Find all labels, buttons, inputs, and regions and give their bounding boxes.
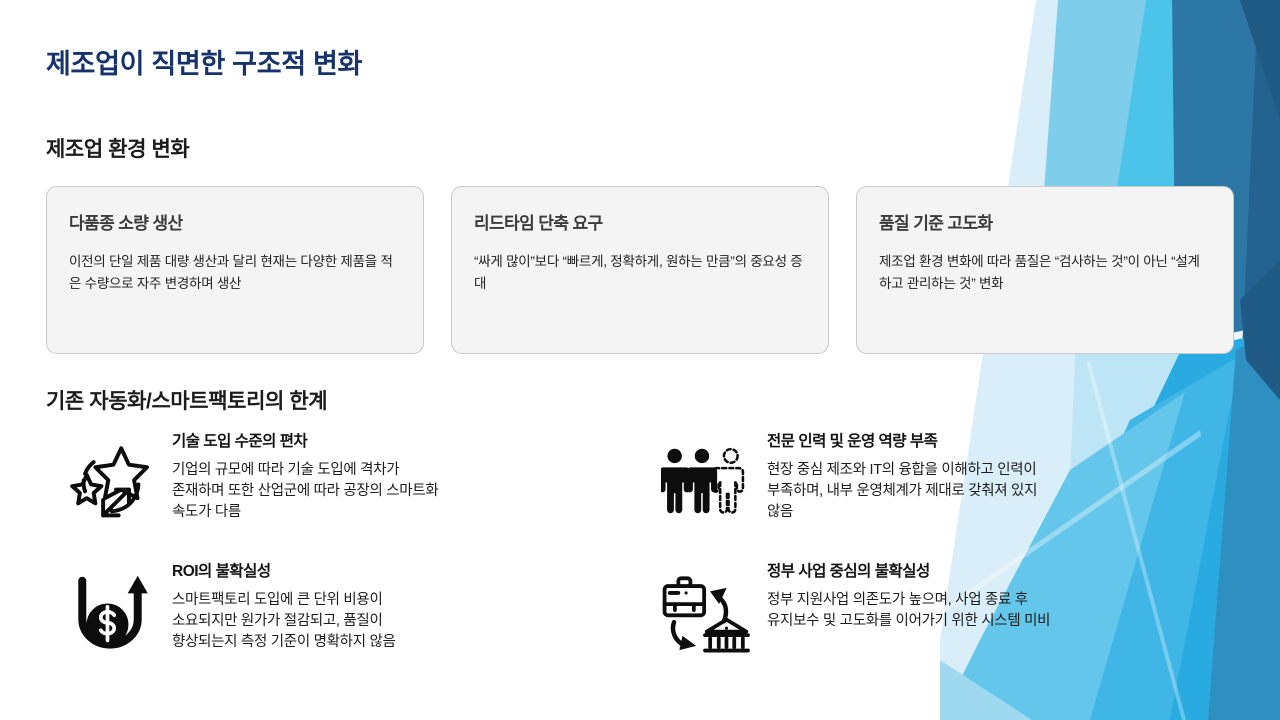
limit-item: 기술 도입 수준의 편차 기업의 규모에 따라 기술 도입에 격차가 존재하며 … xyxy=(62,427,647,557)
stars-cycle-icon xyxy=(62,433,158,529)
roi-dollar-arrow-icon xyxy=(62,563,158,659)
change-card-body: 이전의 단일 제품 대량 생산과 달리 현재는 다양한 제품을 적은 수량으로 … xyxy=(69,251,401,295)
limit-body: 기업의 규모에 따라 기술 도입에 격차가 존재하며 또한 산업군에 따라 공장… xyxy=(172,460,647,523)
slide-root: 제조업이 직면한 구조적 변화 제조업 환경 변화 다품종 소량 생산 이전의 … xyxy=(0,0,1280,720)
change-card-title: 리드타임 단축 요구 xyxy=(474,209,806,234)
section-heading-environment-change: 제조업 환경 변화 xyxy=(46,133,189,163)
change-card-title: 품질 기준 고도화 xyxy=(879,209,1211,234)
change-card-body: “싸게 많이”보다 “빠르게, 정확하게, 원하는 만큼”의 중요성 증대 xyxy=(474,251,806,295)
limit-body: 현장 중심 제조와 IT의 융합을 이해하고 인력이 부족하며, 내부 운영체계… xyxy=(767,460,1242,523)
change-card-body: 제조업 환경 변화에 따라 품질은 “검사하는 것”이 아닌 “설계하고 관리하… xyxy=(879,251,1211,295)
limit-body-line: 기업의 규모에 따라 기술 도입에 격차가 xyxy=(172,460,647,481)
card-body-line: 제조업 환경 변화에 따라 품질은 “검사하는 xyxy=(879,254,1108,269)
limit-text: ROI의 불확실성 스마트팩토리 도입에 큰 단위 비용이 소요되지만 원가가 … xyxy=(172,557,647,653)
people-shortage-icon xyxy=(657,433,753,529)
limit-text: 전문 인력 및 운영 역량 부족 현장 중심 제조와 IT의 융합을 이해하고 … xyxy=(767,427,1242,523)
change-card: 리드타임 단축 요구 “싸게 많이”보다 “빠르게, 정확하게, 원하는 만큼”… xyxy=(451,186,829,354)
page-title: 제조업이 직면한 구조적 변화 xyxy=(46,42,362,81)
limit-body-line: 유지보수 및 고도화를 이어가기 위한 시스템 미비 xyxy=(767,611,1242,632)
limit-body-line: 않음 xyxy=(767,502,1242,523)
limit-body: 스마트팩토리 도입에 큰 단위 비용이 소요되지만 원가가 절감되고, 품질이 … xyxy=(172,590,647,653)
limit-body-line: 향상되는지 측정 기준이 명확하지 않음 xyxy=(172,632,647,653)
limit-title: 기술 도입 수준의 편차 xyxy=(172,429,647,451)
limit-body-line: 부족하며, 내부 운영체계가 제대로 갖춰져 있지 xyxy=(767,481,1242,502)
limit-item: 정부 사업 중심의 불확실성 정부 지원사업 의존도가 높으며, 사업 종료 후… xyxy=(657,557,1242,687)
limit-text: 정부 사업 중심의 불확실성 정부 지원사업 의존도가 높으며, 사업 종료 후… xyxy=(767,557,1242,632)
limit-body-line: 스마트팩토리 도입에 큰 단위 비용이 xyxy=(172,590,647,611)
limit-title: 전문 인력 및 운영 역량 부족 xyxy=(767,429,1242,451)
limit-body-line: 현장 중심 제조와 IT의 융합을 이해하고 인력이 xyxy=(767,460,1242,481)
limit-item: ROI의 불확실성 스마트팩토리 도입에 큰 단위 비용이 소요되지만 원가가 … xyxy=(62,557,647,687)
change-card: 다품종 소량 생산 이전의 단일 제품 대량 생산과 달리 현재는 다양한 제품… xyxy=(46,186,424,354)
limit-body: 정부 지원사업 의존도가 높으며, 사업 종료 후 유지보수 및 고도화를 이어… xyxy=(767,590,1242,632)
change-card: 품질 기준 고도화 제조업 환경 변화에 따라 품질은 “검사하는 것”이 아닌… xyxy=(856,186,1234,354)
section-heading-automation-limits: 기존 자동화/스마트팩토리의 한계 xyxy=(46,385,327,415)
card-body-line: “싸게 많이”보다 “빠르게, 정확하게, 원하는 xyxy=(474,254,702,269)
limit-body-line: 존재하며 또한 산업군에 따라 공장의 스마트화 xyxy=(172,481,647,502)
card-body-line: 이전의 단일 제품 대량 생산과 달리 현재는 xyxy=(69,254,297,269)
briefcase-government-cycle-icon xyxy=(657,563,753,659)
limit-item: 전문 인력 및 운영 역량 부족 현장 중심 제조와 IT의 융합을 이해하고 … xyxy=(657,427,1242,557)
limit-text: 기술 도입 수준의 편차 기업의 규모에 따라 기술 도입에 격차가 존재하며 … xyxy=(172,427,647,523)
limit-body-line: 소요되지만 원가가 절감되고, 품질이 xyxy=(172,611,647,632)
limit-body-line: 정부 지원사업 의존도가 높으며, 사업 종료 후 xyxy=(767,590,1242,611)
limit-body-line: 속도가 다름 xyxy=(172,502,647,523)
change-card-title: 다품종 소량 생산 xyxy=(69,209,401,234)
automation-limits-grid: 기술 도입 수준의 편차 기업의 규모에 따라 기술 도입에 격차가 존재하며 … xyxy=(62,427,1242,687)
limit-title: ROI의 불확실성 xyxy=(172,559,647,581)
limit-title: 정부 사업 중심의 불확실성 xyxy=(767,559,1242,581)
card-body-line: 생산 xyxy=(217,276,241,291)
environment-change-card-row: 다품종 소량 생산 이전의 단일 제품 대량 생산과 달리 현재는 다양한 제품… xyxy=(46,186,1234,354)
